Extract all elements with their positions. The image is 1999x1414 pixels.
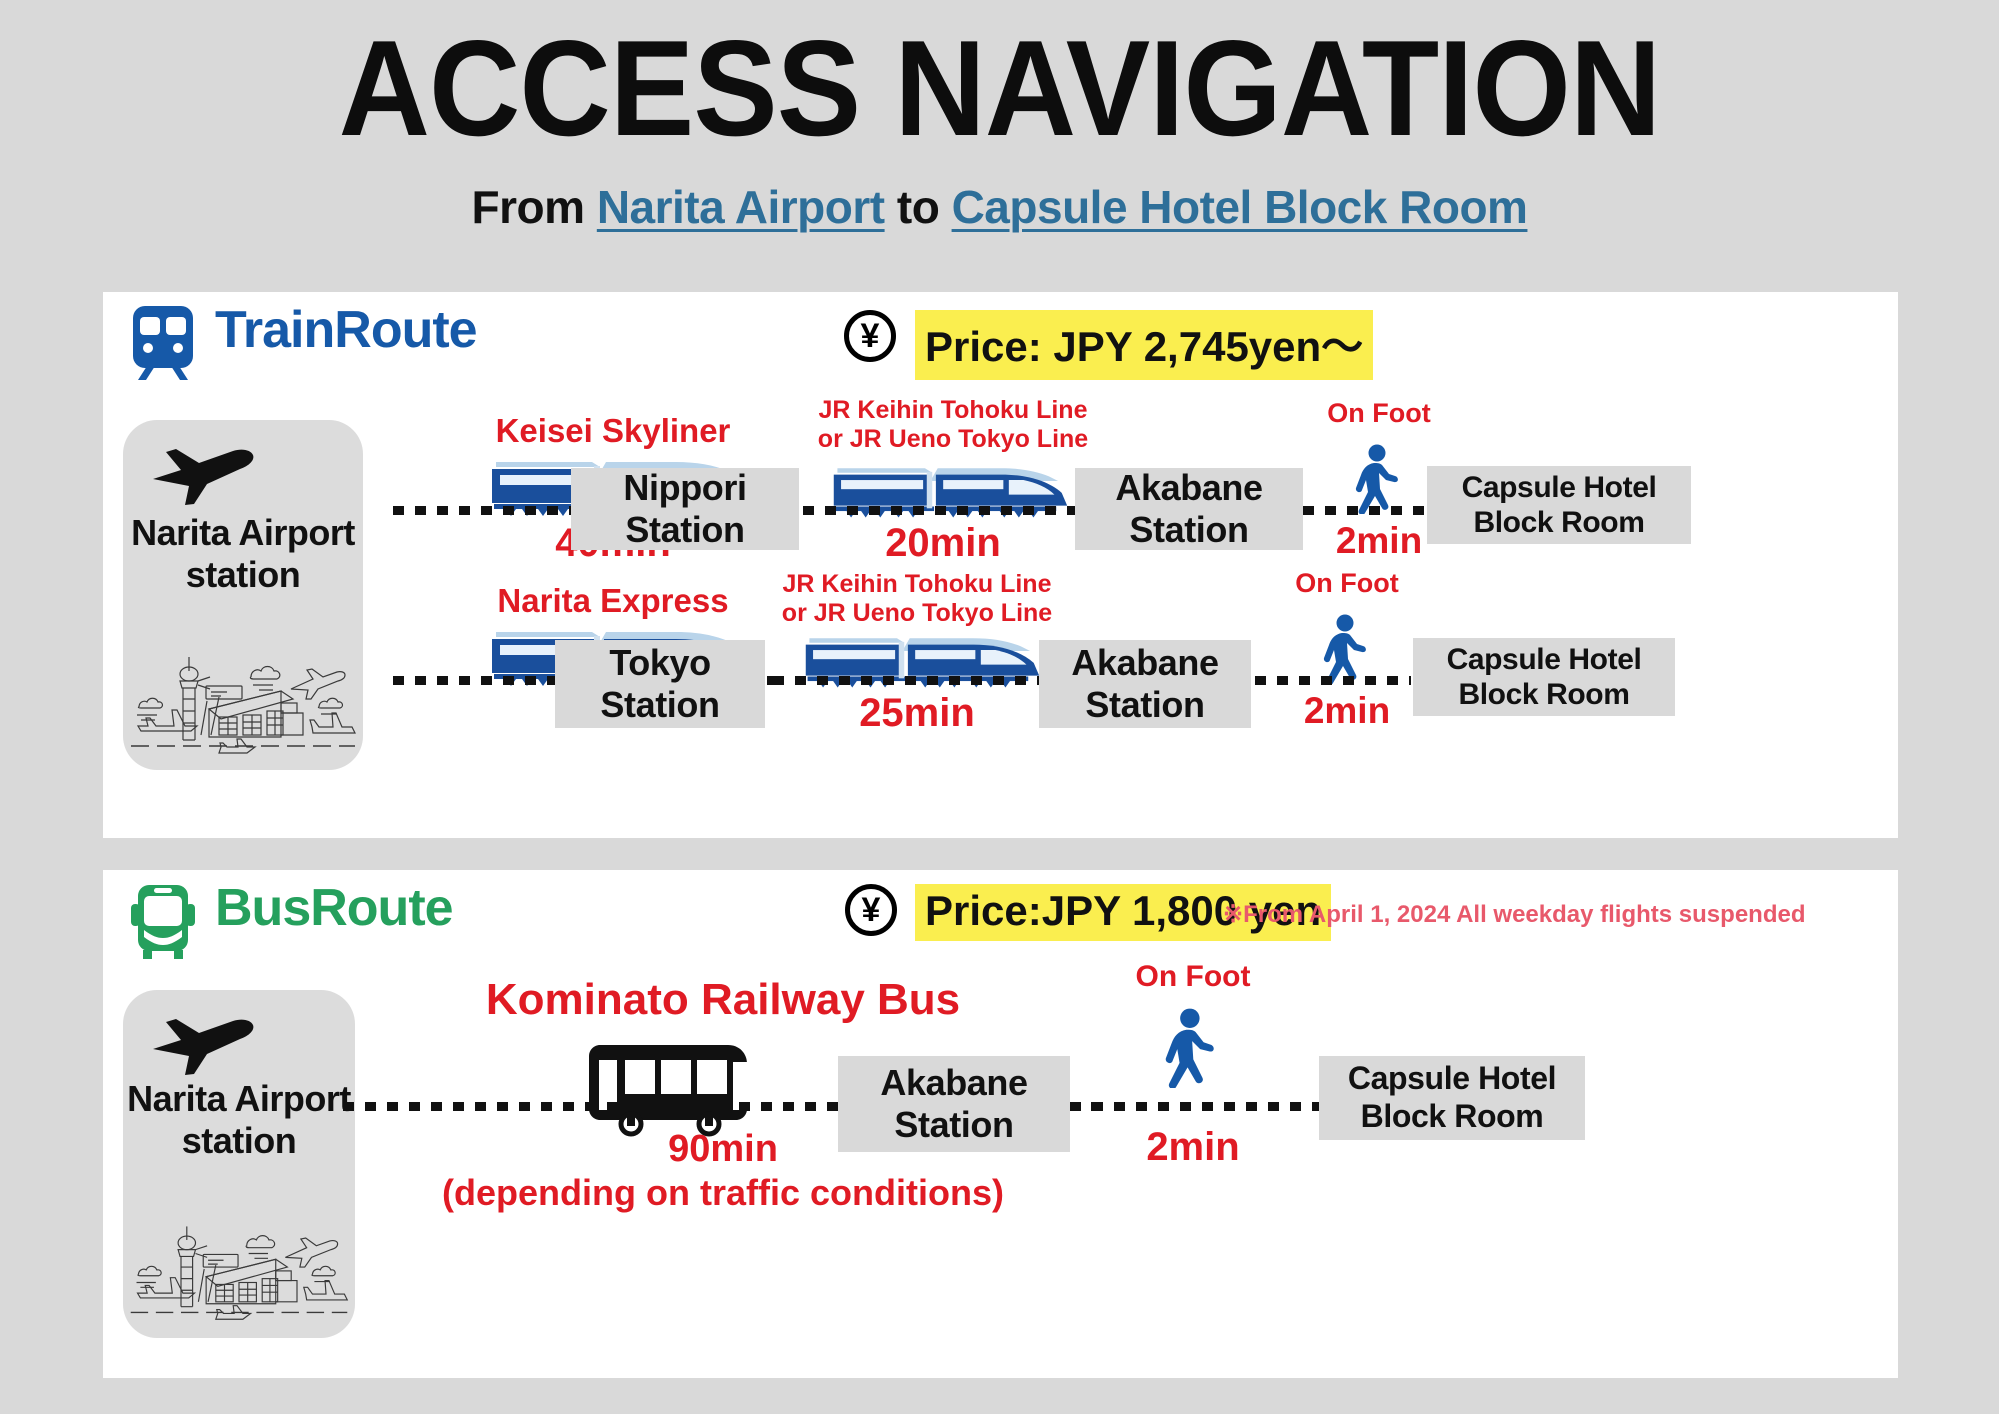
bus-suspension-notice: ※From April 1, 2024 All weekday flights … xyxy=(1223,900,1806,929)
train-r2-stop-2: Akabane Station xyxy=(1039,640,1251,728)
bus-route-panel: BusRoute ¥ Price:JPY 1,800 yen ※From Apr… xyxy=(103,870,1898,1378)
train-r1-leg1-title: Keisei Skyliner xyxy=(453,412,773,450)
train-r2-leg3-time: 2min xyxy=(1265,690,1429,733)
yen-icon-bus: ¥ xyxy=(845,884,897,936)
subtitle-origin-link[interactable]: Narita Airport xyxy=(597,181,885,233)
origin-card-train: Narita Airport station xyxy=(123,420,363,770)
train-r1-stop-3: Capsule Hotel Block Room xyxy=(1427,466,1691,544)
page-subtitle: From Narita Airport to Capsule Hotel Blo… xyxy=(0,180,1999,234)
train-r2-dots-3 xyxy=(1255,676,1411,685)
bus-leg1-time-note: (depending on traffic conditions) xyxy=(383,1172,1063,1213)
bus-stop-2: Capsule Hotel Block Room xyxy=(1319,1056,1585,1140)
bus-route-title: BusRoute xyxy=(215,878,453,938)
train-r2-leg2-time: 25min xyxy=(767,690,1067,736)
train-route-header: TrainRoute ¥ Price: JPY 2,745yen〜 xyxy=(103,292,1898,388)
origin-card-train-label: Narita Airport station xyxy=(123,512,363,597)
walking-person-icon xyxy=(1155,1008,1227,1093)
train-r2-leg2-title: JR Keihin Tohoku Line or JR Ueno Tokyo L… xyxy=(767,570,1067,628)
train-r2-leg3-title: On Foot xyxy=(1265,568,1429,599)
train-front-icon xyxy=(131,304,195,387)
infographic-page: ACCESS NAVIGATION From Narita Airport to… xyxy=(0,0,1999,1414)
train-price-label: Price: JPY 2,745yen〜 xyxy=(915,310,1373,380)
train-route-panel: TrainRoute ¥ Price: JPY 2,745yen〜 Narita… xyxy=(103,292,1898,838)
train-r2-leg1-title: Narita Express xyxy=(453,582,773,620)
bus-leg1-title: Kominato Railway Bus xyxy=(403,974,1043,1025)
airport-terminal-illustration xyxy=(123,1209,355,1332)
train-r1-leg3-title: On Foot xyxy=(1299,398,1459,429)
bus-route-header: BusRoute ¥ Price:JPY 1,800 yen ※From Apr… xyxy=(103,870,1898,966)
yen-icon-train: ¥ xyxy=(844,310,896,362)
bus-leg2-time: 2min xyxy=(1103,1124,1283,1170)
bus-stop-1: Akabane Station xyxy=(838,1056,1070,1152)
bus-front-icon xyxy=(131,882,195,967)
train-r1-dots-2 xyxy=(803,506,1079,515)
train-r2-stop-3: Capsule Hotel Block Room xyxy=(1413,638,1675,716)
page-title: ACCESS NAVIGATION xyxy=(70,0,1929,156)
shinkansen-icon xyxy=(793,632,1041,695)
train-r2-stop-1: Tokyo Station xyxy=(555,640,765,728)
origin-card-bus: Narita Airport station xyxy=(123,990,355,1338)
train-r1-leg2-title: JR Keihin Tohoku Line or JR Ueno Tokyo L… xyxy=(803,396,1103,454)
train-r1-stop-1: Nippori Station xyxy=(571,468,799,550)
train-r1-leg2-time: 20min xyxy=(803,520,1083,566)
airport-terminal-illustration xyxy=(123,641,363,764)
train-r1-dots-3 xyxy=(1303,506,1431,515)
origin-card-bus-label: Narita Airport station xyxy=(123,1078,355,1163)
airplane-icon xyxy=(147,1002,259,1081)
shinkansen-icon xyxy=(821,462,1069,525)
subtitle-destination-link[interactable]: Capsule Hotel Block Room xyxy=(952,181,1528,233)
train-r2-dots-2 xyxy=(773,676,1043,685)
train-route-title: TrainRoute xyxy=(215,300,477,360)
bus-leg2-title: On Foot xyxy=(1103,960,1283,995)
airplane-icon xyxy=(147,432,259,511)
bus-dots-2 xyxy=(1070,1102,1324,1111)
subtitle-from-text: From xyxy=(472,181,597,233)
train-r1-stop-2: Akabane Station xyxy=(1075,468,1303,550)
subtitle-to-text: to xyxy=(885,181,952,233)
